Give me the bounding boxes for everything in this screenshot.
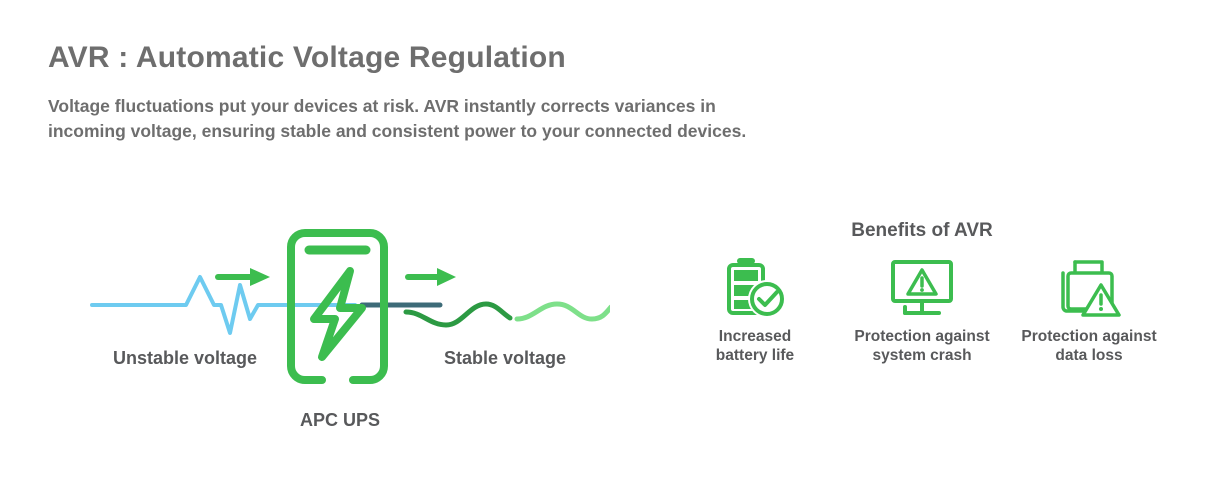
benefit-icon-wrapper [889,257,955,319]
page-description-line-2: incoming voltage, ensuring stable and co… [48,119,878,144]
stable-voltage-waveform-light-icon [517,304,610,319]
monitor-warning-icon [889,257,955,319]
page-description-line-1: Voltage fluctuations put your devices at… [48,94,878,119]
benefits-section: Benefits of AVR [672,215,1172,395]
benefit-label: Increased battery life [716,327,794,365]
benefit-label: Protection against system crash [854,327,989,365]
avr-flow-diagram: Unstable voltage Stable voltage APC UPS [90,215,610,440]
benefit-icon-wrapper [723,257,787,319]
flow-diagram-graphic [90,215,610,440]
benefit-item-battery: Increased battery life [672,257,838,365]
benefit-icon-wrapper [1057,257,1121,319]
benefits-title: Benefits of AVR [672,220,1172,242]
benefits-list: Increased battery life [672,257,1172,365]
benefit-item-data-loss: Protection against data loss [1006,257,1172,365]
benefit-item-system-crash: Protection against system crash [839,257,1005,365]
folder-warning-icon [1057,257,1121,319]
arrow-right-input-icon [218,268,270,286]
apc-ups-label: APC UPS [245,410,435,431]
page-description: Voltage fluctuations put your devices at… [48,94,878,144]
arrow-right-output-icon [408,268,456,286]
infographic-page: AVR : Automatic Voltage Regulation Volta… [0,0,1214,498]
stable-voltage-label: Stable voltage [410,348,600,369]
benefit-label: Protection against data loss [1021,327,1156,365]
page-title: AVR : Automatic Voltage Regulation [48,41,566,75]
battery-check-icon [723,257,787,319]
unstable-voltage-waveform-icon [92,277,355,333]
unstable-voltage-label: Unstable voltage [90,348,280,369]
